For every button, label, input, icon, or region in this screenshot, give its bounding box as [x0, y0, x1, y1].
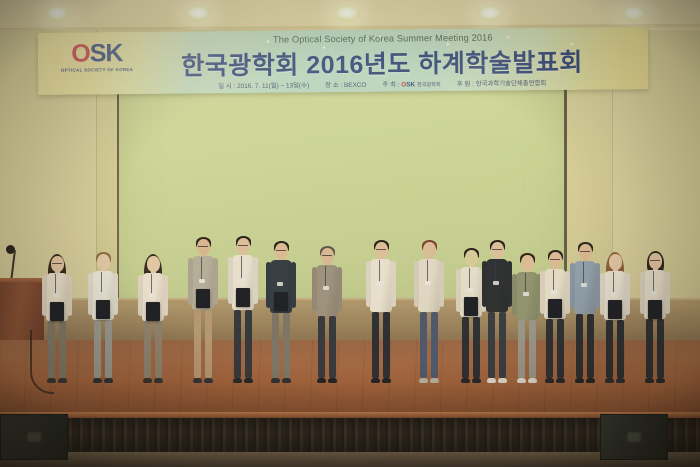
- banner-sponsor-label: 후 원 :: [457, 81, 474, 88]
- person-2: [88, 252, 118, 384]
- person-leg-left: [94, 320, 101, 378]
- person-arm-right: [625, 273, 630, 315]
- stage-skirt-shading: [0, 418, 700, 454]
- banner-sponsor: 후 원 : 한국과학기술단체총연합회: [457, 78, 547, 88]
- name-badge: [99, 292, 105, 296]
- person-leg-left: [318, 316, 325, 378]
- person-shoe-right: [204, 378, 213, 383]
- person-arm-left: [312, 267, 317, 311]
- name-badge: [199, 279, 205, 283]
- award-certificate: [548, 299, 562, 318]
- name-badge: [581, 283, 587, 287]
- glasses-icon: [238, 245, 248, 248]
- glasses-icon: [276, 250, 286, 253]
- person-torso: [316, 265, 338, 316]
- person-arm-right: [439, 261, 444, 307]
- person-leg-left: [420, 312, 427, 378]
- name-badge: [53, 293, 59, 297]
- stage-monitor-speaker-2: [600, 414, 668, 460]
- person-8: [366, 240, 396, 384]
- person-leg-right: [529, 320, 536, 378]
- lanyard: [55, 274, 56, 294]
- lanyard: [525, 273, 526, 293]
- glasses-icon: [376, 249, 386, 252]
- person-arm-left: [414, 261, 419, 307]
- award-certificate: [648, 300, 662, 319]
- name-badge: [377, 281, 383, 285]
- banner-sponsor-value: 한국과학기술단체총연합회: [476, 80, 547, 88]
- speaker-cone-icon: [26, 431, 42, 443]
- person-leg-right: [245, 310, 252, 378]
- person-arm-right: [67, 275, 72, 316]
- person-arm-left: [600, 273, 605, 315]
- person-shoe-right: [328, 378, 337, 383]
- person-arm-left: [456, 269, 461, 312]
- person-15: [600, 252, 630, 384]
- person-arm-left: [188, 258, 193, 305]
- person-leg-right: [59, 321, 66, 378]
- person-6: [266, 241, 296, 384]
- person-shoe-left: [143, 378, 152, 383]
- person-head: [423, 242, 436, 258]
- person-leg-right: [499, 312, 506, 378]
- person-9: [414, 240, 444, 384]
- person-leg-right: [105, 320, 112, 378]
- person-shoe-left: [645, 378, 654, 383]
- person-head: [147, 256, 160, 272]
- name-badge: [493, 281, 499, 285]
- person-leg-right: [155, 321, 162, 378]
- ceiling-light-5: [621, 6, 647, 21]
- lanyard: [427, 260, 428, 282]
- person-shoe-right: [58, 378, 67, 383]
- person-arm-left: [570, 263, 575, 308]
- person-leg-left: [546, 319, 553, 378]
- banner-host-logo: OSK: [401, 81, 415, 88]
- banner-date: 일 시 : 2016. 7. 11(월) ~ 13일(수): [218, 80, 309, 90]
- person-leg-left: [194, 310, 201, 378]
- glasses-icon: [52, 263, 62, 266]
- banner-place: 장 소 : BEXCO: [325, 80, 366, 89]
- person-leg-left: [606, 320, 613, 378]
- person-arm-left: [228, 257, 233, 304]
- person-arm-right: [391, 261, 396, 307]
- person-shoe-left: [271, 378, 280, 383]
- person-4: [188, 237, 218, 384]
- award-certificate: [50, 302, 64, 321]
- lanyard: [325, 266, 326, 287]
- photograph: OSK OPTICAL SOCIETY OF KOREA The Optical…: [0, 0, 700, 467]
- award-certificate: [608, 300, 622, 319]
- person-torso: [516, 272, 538, 320]
- person-arm-left: [88, 273, 93, 315]
- person-shoe-right: [556, 378, 565, 383]
- stage-monitor-speaker-1: [0, 414, 68, 460]
- banner-date-label: 일 시 :: [218, 83, 235, 90]
- award-certificate: [146, 302, 160, 321]
- person-shoe-right: [498, 378, 507, 383]
- person-shoe-left: [575, 378, 584, 383]
- person-leg-right: [283, 313, 290, 378]
- person-shoe-left: [487, 378, 496, 383]
- person-leg-right: [431, 312, 438, 378]
- person-leg-right: [587, 314, 594, 378]
- person-leg-right: [205, 310, 212, 378]
- ceiling-light-3: [334, 6, 360, 21]
- person-11: [482, 240, 512, 384]
- person-arm-left: [512, 274, 517, 316]
- award-certificate: [274, 292, 288, 311]
- name-badge: [551, 290, 557, 294]
- person-head: [521, 255, 534, 271]
- person-shoe-right: [528, 378, 537, 383]
- person-shoe-left: [93, 378, 102, 383]
- person-leg-left: [272, 313, 279, 378]
- person-leg-left: [462, 317, 469, 378]
- name-badge: [425, 281, 431, 285]
- person-arm-left: [640, 272, 645, 314]
- person-arm-left: [366, 261, 371, 307]
- person-arm-right: [253, 257, 258, 304]
- person-arm-right: [213, 258, 218, 305]
- award-certificate: [236, 288, 250, 307]
- person-shoe-right: [382, 378, 391, 383]
- person-leg-left: [646, 319, 653, 378]
- name-badge: [323, 286, 329, 290]
- person-leg-left: [144, 321, 151, 378]
- person-torso: [418, 259, 440, 312]
- person-shoe-right: [656, 378, 665, 383]
- person-torso: [574, 261, 596, 314]
- person-arm-right: [665, 272, 670, 314]
- glasses-icon: [550, 259, 560, 262]
- name-badge: [277, 282, 283, 286]
- lanyard: [279, 261, 280, 283]
- person-shoe-left: [461, 378, 470, 383]
- person-13: [540, 250, 570, 384]
- person-leg-right: [383, 312, 390, 378]
- person-torso: [486, 259, 508, 312]
- person-shoe-left: [317, 378, 326, 383]
- name-badge: [149, 293, 155, 297]
- person-shoe-left: [517, 378, 526, 383]
- banner-date-value: 2016. 7. 11(월) ~ 13일(수): [237, 82, 309, 90]
- glasses-icon: [322, 255, 332, 258]
- person-leg-right: [617, 320, 624, 378]
- award-certificate: [464, 297, 478, 316]
- lanyard: [379, 260, 380, 282]
- person-shoe-right: [430, 378, 439, 383]
- person-shoe-right: [154, 378, 163, 383]
- ceiling-light-1: [44, 6, 70, 21]
- person-shoe-left: [605, 378, 614, 383]
- person-shoe-right: [472, 378, 481, 383]
- person-leg-right: [473, 317, 480, 378]
- person-head: [465, 250, 478, 266]
- glasses-icon: [198, 246, 208, 249]
- person-shoe-right: [244, 378, 253, 383]
- lanyard: [653, 271, 654, 292]
- person-arm-left: [540, 271, 545, 314]
- event-banner: OSK OPTICAL SOCIETY OF KOREA The Optical…: [38, 27, 649, 95]
- person-7: [312, 246, 342, 384]
- lanyard: [583, 262, 584, 284]
- person-leg-right: [557, 319, 564, 378]
- person-leg-left: [576, 314, 583, 378]
- ceiling-light-4: [477, 6, 503, 21]
- glasses-icon: [650, 260, 660, 263]
- person-arm-right: [113, 273, 118, 315]
- person-leg-left: [488, 312, 495, 378]
- person-shoe-left: [419, 378, 428, 383]
- person-shoe-left: [371, 378, 380, 383]
- person-arm-left: [42, 275, 47, 316]
- person-shoe-left: [193, 378, 202, 383]
- speaker-cone-icon: [626, 431, 642, 443]
- person-arm-left: [138, 275, 143, 316]
- name-badge: [239, 278, 245, 282]
- person-arm-left: [266, 262, 271, 308]
- lanyard: [101, 272, 102, 293]
- name-badge: [611, 292, 617, 296]
- name-badge: [651, 291, 657, 295]
- person-shoe-right: [616, 378, 625, 383]
- banner-place-value: BEXCO: [344, 82, 366, 89]
- person-head: [609, 254, 622, 270]
- person-head: [97, 254, 110, 270]
- banner-place-label: 장 소 :: [325, 82, 342, 89]
- person-shoe-right: [282, 378, 291, 383]
- banner-host: 주 최 : OSK 한국광학회: [382, 79, 440, 89]
- lanyard: [553, 270, 554, 291]
- person-shoe-right: [104, 378, 113, 383]
- name-badge: [467, 288, 473, 292]
- award-certificate: [196, 289, 210, 308]
- person-12: [512, 253, 542, 384]
- banner-host-label: 주 최 :: [382, 81, 399, 88]
- lanyard: [151, 274, 152, 294]
- person-leg-right: [329, 316, 336, 378]
- person-arm-right: [163, 275, 168, 316]
- person-16: [640, 251, 670, 384]
- lanyard: [613, 272, 614, 293]
- award-certificate: [96, 300, 110, 319]
- glasses-icon: [580, 251, 590, 254]
- person-leg-left: [518, 320, 525, 378]
- person-leg-left: [372, 312, 379, 378]
- banner-host-value: 한국광학회: [417, 82, 441, 88]
- lanyard: [495, 260, 496, 282]
- person-14: [570, 242, 600, 384]
- person-arm-right: [337, 267, 342, 311]
- person-shoe-right: [586, 378, 595, 383]
- person-5: [228, 236, 258, 384]
- person-arm-left: [482, 261, 487, 307]
- person-shoe-left: [233, 378, 242, 383]
- microphone-cable: [30, 330, 54, 394]
- lanyard: [201, 257, 202, 280]
- lanyard: [241, 256, 242, 279]
- person-torso: [370, 259, 392, 312]
- banner-host-logo-sk: SK: [406, 81, 415, 88]
- person-shoe-left: [545, 378, 554, 383]
- ceiling-light-2: [185, 6, 211, 21]
- person-leg-left: [234, 310, 241, 378]
- auditorium-floor: [0, 452, 700, 467]
- person-3: [138, 254, 168, 384]
- glasses-icon: [492, 249, 502, 252]
- person-arm-right: [291, 262, 296, 308]
- name-badge: [523, 292, 529, 296]
- lanyard: [469, 268, 470, 289]
- person-leg-right: [657, 319, 664, 378]
